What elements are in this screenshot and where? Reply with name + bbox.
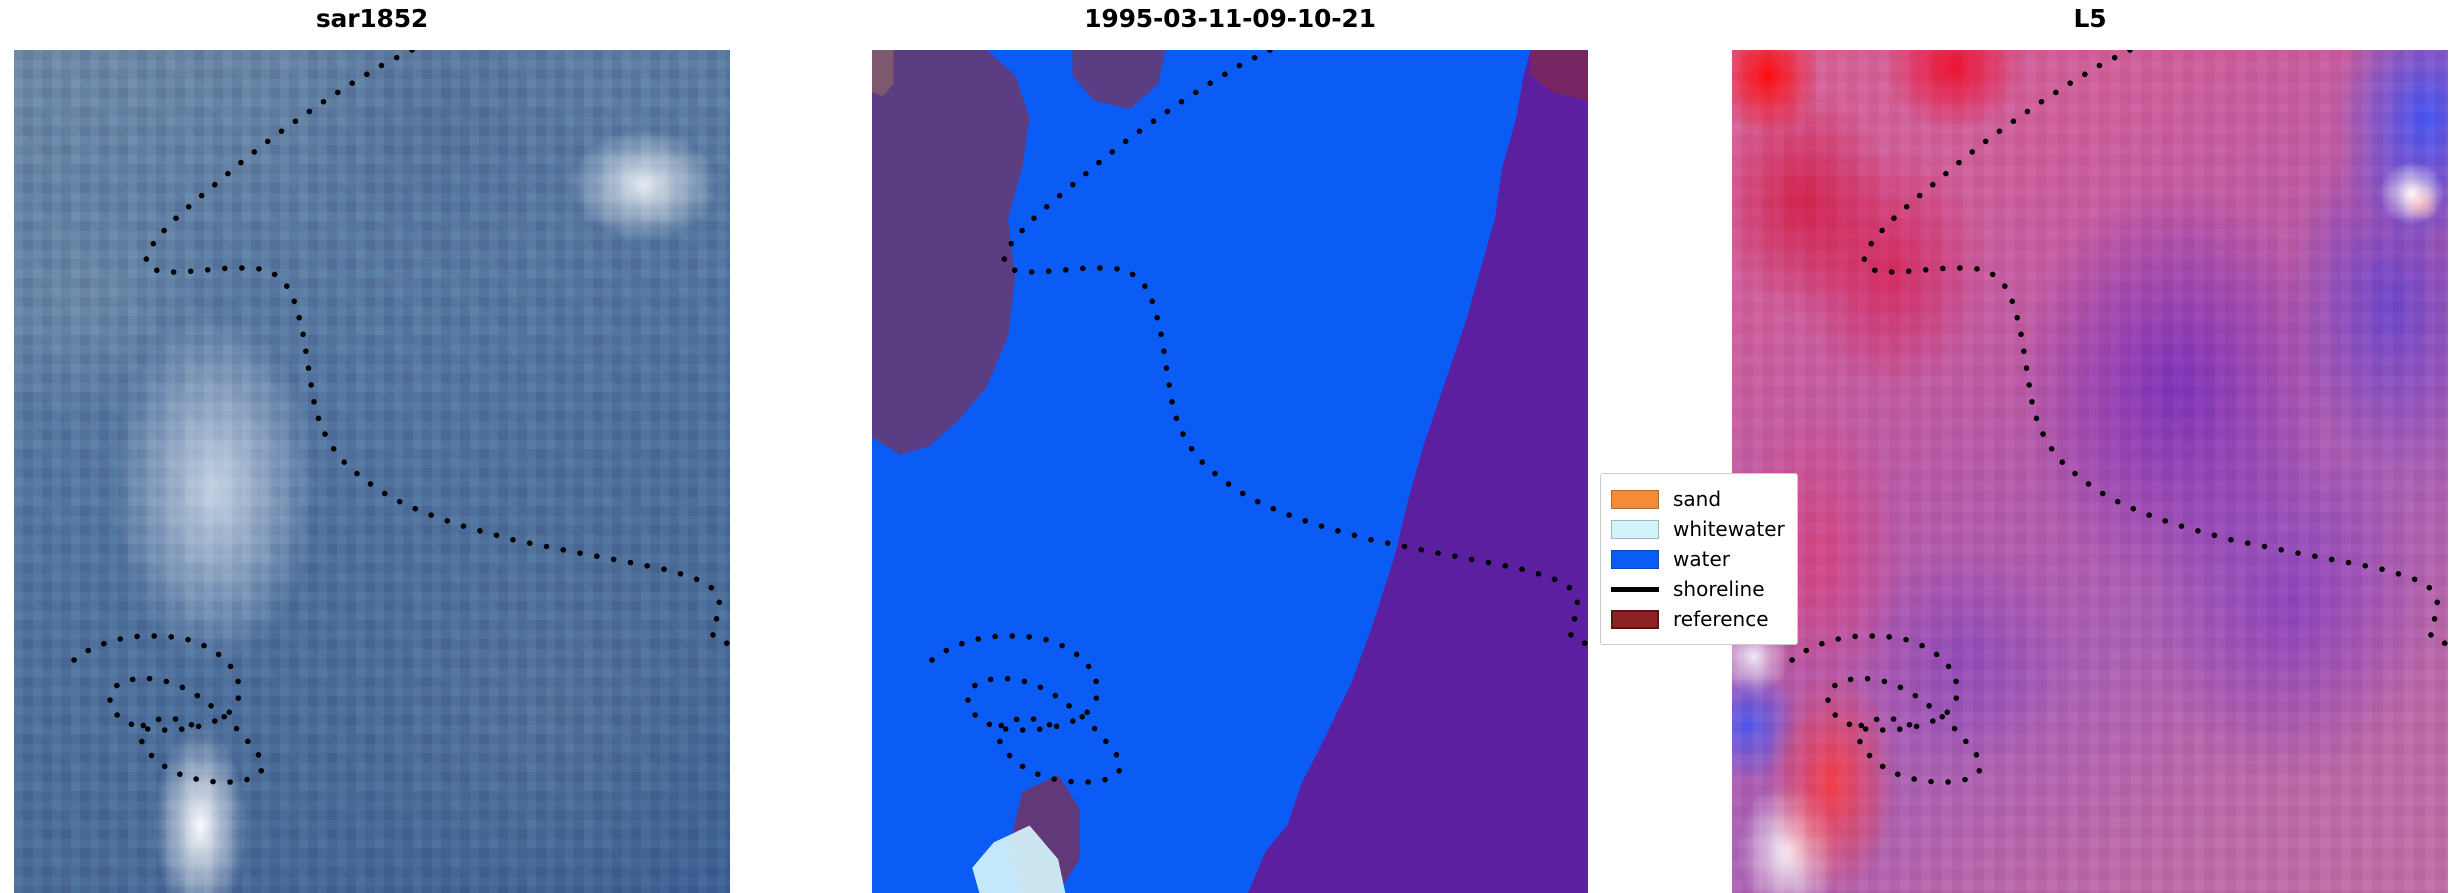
panel-title-l5: L5 bbox=[1732, 4, 2448, 33]
shoreline-dotted-path-main bbox=[1864, 50, 2448, 644]
image-panel-l5[interactable] bbox=[1732, 50, 2448, 893]
panel-title-timestamp: 1995-03-11-09-10-21 bbox=[872, 4, 1588, 33]
legend-swatch-whitewater-icon bbox=[1611, 520, 1659, 539]
legend-swatch-water-icon bbox=[1611, 550, 1659, 569]
image-panel-sar1852[interactable] bbox=[14, 50, 730, 893]
panel-title-sar1852: sar1852 bbox=[14, 4, 730, 33]
shoreline-dotted-path-main bbox=[146, 50, 730, 644]
legend-item-whitewater: whitewater bbox=[1611, 514, 1785, 544]
shoreline-overlay-panel1 bbox=[14, 50, 730, 893]
legend-label-sand: sand bbox=[1673, 489, 1721, 509]
legend-swatch-shoreline-icon bbox=[1611, 587, 1659, 592]
legend-label-reference: reference bbox=[1673, 609, 1769, 629]
legend-item-sand: sand bbox=[1611, 484, 1785, 514]
legend-item-shoreline: shoreline bbox=[1611, 574, 1785, 604]
shoreline-dotted-path-island bbox=[1792, 636, 1980, 782]
legend-label-water: water bbox=[1673, 549, 1730, 569]
shoreline-dotted-path-main bbox=[1004, 50, 1588, 644]
legend-box: sand whitewater water shoreline referenc… bbox=[1600, 473, 1798, 645]
shoreline-dotted-path-island bbox=[932, 636, 1120, 782]
legend-label-shoreline: shoreline bbox=[1673, 579, 1765, 599]
legend-label-whitewater: whitewater bbox=[1673, 519, 1785, 539]
legend-item-water: water bbox=[1611, 544, 1785, 574]
legend-swatch-sand-icon bbox=[1611, 490, 1659, 509]
image-panel-classification[interactable] bbox=[872, 50, 1588, 893]
shoreline-dotted-path-island bbox=[74, 636, 262, 782]
shoreline-overlay-panel3 bbox=[1732, 50, 2448, 893]
legend-swatch-reference-icon bbox=[1611, 610, 1659, 629]
figure-canvas: sar1852 1995-03-11-09-10-21 L5 bbox=[0, 0, 2460, 893]
legend-item-reference: reference bbox=[1611, 604, 1785, 634]
shoreline-overlay-panel2 bbox=[872, 50, 1588, 893]
